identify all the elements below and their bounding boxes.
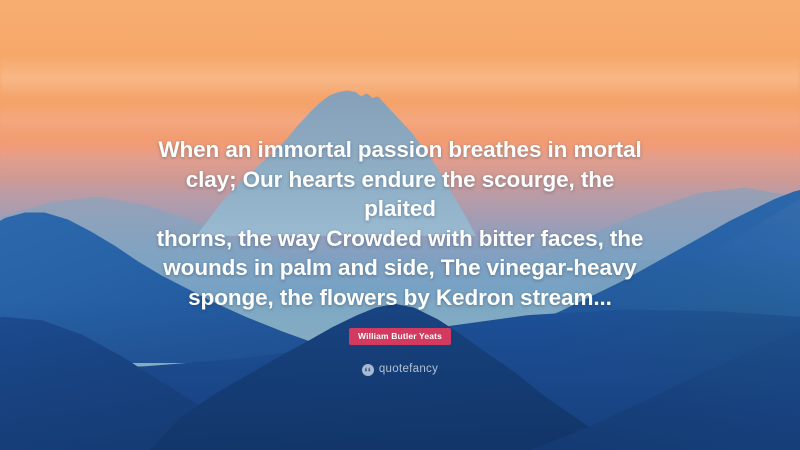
quote-line-3: thorns, the way Crowded with bitter face… (150, 224, 650, 254)
quote-line-2: clay; Our hearts endure the scourge, the… (150, 165, 650, 224)
quote-line-5: sponge, the flowers by Kedron stream... (150, 283, 650, 313)
watermark[interactable]: quotefancy (0, 364, 800, 376)
quote-mark-icon (362, 364, 374, 376)
watermark-brand: quotefancy (379, 364, 438, 376)
quote-line-4: wounds in palm and side, The vinegar-hea… (150, 253, 650, 283)
quote-text: When an immortal passion breathes in mor… (150, 135, 650, 312)
quote-line-1: When an immortal passion breathes in mor… (150, 135, 650, 165)
author-badge[interactable]: William Butler Yeats (349, 328, 451, 345)
poster-content: When an immortal passion breathes in mor… (0, 0, 800, 450)
quote-poster: When an immortal passion breathes in mor… (0, 0, 800, 450)
